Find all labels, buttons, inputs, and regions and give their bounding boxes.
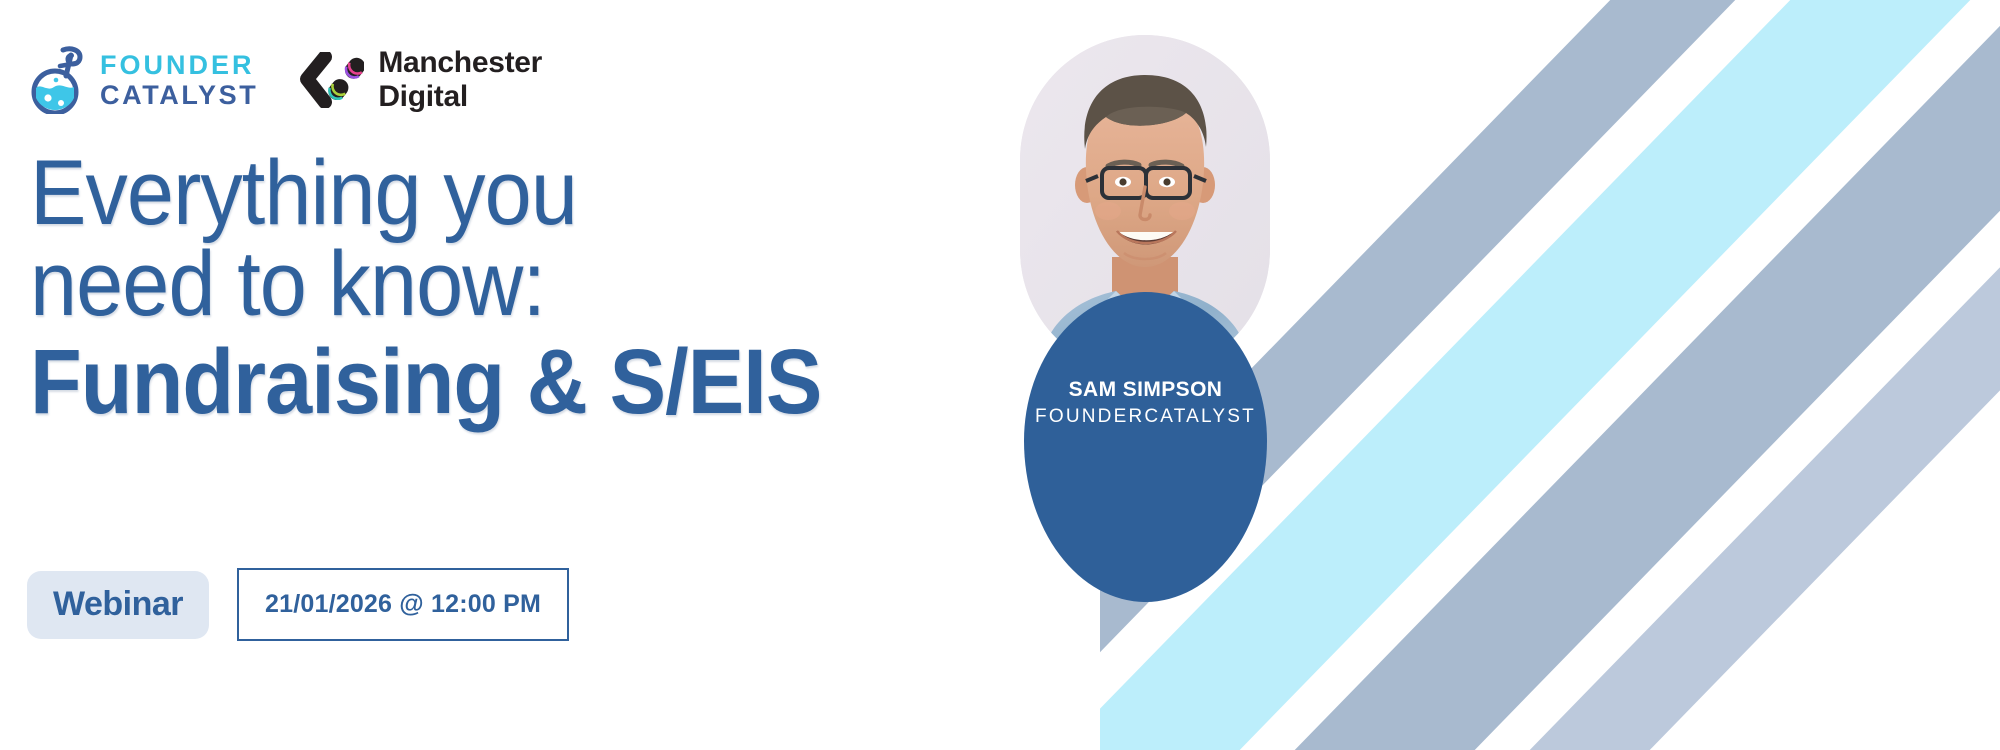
foundercatalyst-logo[interactable]: FOUNDER CATALYST [30, 46, 258, 114]
headline-line-1: Everything you [30, 148, 821, 239]
flask-pound-icon [30, 46, 90, 114]
md-line-1: Manchester [378, 46, 542, 80]
manchester-digital-logo[interactable]: Manchester Digital [296, 46, 542, 113]
foundercatalyst-wordmark: FOUNDER CATALYST [100, 52, 258, 109]
speaker-organisation: FOUNDERCATALYST [1035, 407, 1256, 428]
headline-block: Everything you need to know: Fundraising… [30, 148, 890, 428]
webinar-datetime-box[interactable]: 21/01/2026 @ 12:00 PM [237, 568, 569, 641]
headline-line-3: Fundraising & S/EIS [30, 337, 821, 428]
badge-row: Webinar 21/01/2026 @ 12:00 PM [27, 568, 569, 641]
fc-word-catalyst: CATALYST [100, 82, 258, 109]
md-line-2: Digital [378, 80, 542, 114]
speaker-block: SAM SIMPSON FOUNDERCATALYST [1020, 35, 1520, 750]
logo-row: FOUNDER CATALYST [30, 46, 542, 114]
webinar-type-badge[interactable]: Webinar [27, 571, 209, 639]
headline-line-2: need to know: [30, 239, 821, 330]
fc-word-founder: FOUNDER [100, 52, 258, 79]
webinar-banner: FOUNDER CATALYST [0, 0, 2000, 750]
manchester-digital-wordmark: Manchester Digital [378, 46, 542, 113]
manchester-digital-chevron-icon [296, 52, 364, 108]
speaker-name-blob: SAM SIMPSON FOUNDERCATALYST [1024, 292, 1267, 602]
speaker-name: SAM SIMPSON [1069, 378, 1223, 401]
